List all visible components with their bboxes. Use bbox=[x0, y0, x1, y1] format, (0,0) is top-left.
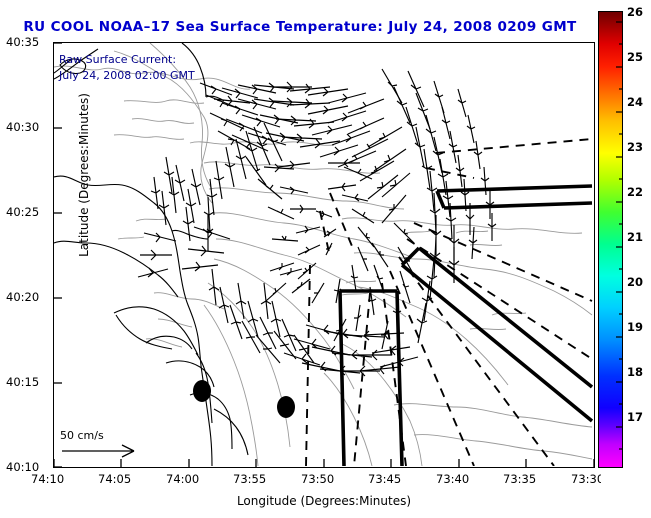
station-marker[interactable] bbox=[277, 396, 295, 418]
colorbar-tick-label: 18 bbox=[627, 365, 643, 379]
arrow-right-icon bbox=[60, 442, 144, 460]
colorbar-tick-label: 17 bbox=[627, 410, 643, 424]
colorbar-tick-label: 21 bbox=[627, 230, 643, 244]
vector-scale-legend: 50 cm/s bbox=[60, 429, 144, 460]
vector-scale-label: 50 cm/s bbox=[60, 429, 144, 442]
x-tick-label: 74:10 bbox=[31, 472, 64, 486]
colorbar-tick-label: 26 bbox=[627, 5, 643, 19]
map-plot-area[interactable] bbox=[53, 42, 595, 468]
y-tick-label: 40:25 bbox=[6, 205, 39, 219]
map-canvas bbox=[54, 43, 593, 466]
page-title: RU COOL NOAA–17 Sea Surface Temperature:… bbox=[0, 19, 600, 35]
y-tick-label: 40:15 bbox=[6, 375, 39, 389]
station-markers[interactable] bbox=[193, 380, 295, 418]
colorbar-tick-label: 20 bbox=[627, 275, 643, 289]
colorbar-ticks bbox=[614, 11, 624, 468]
station-marker[interactable] bbox=[193, 380, 211, 402]
annotation-line-1: Raw Surface Current: bbox=[59, 52, 195, 68]
x-tick-label: 74:00 bbox=[166, 472, 199, 486]
y-tick-label: 40:20 bbox=[6, 290, 39, 304]
x-tick-label: 73:35 bbox=[503, 472, 536, 486]
bathymetry-contours bbox=[54, 43, 592, 466]
colorbar-tick-label: 22 bbox=[627, 185, 643, 199]
x-tick-label: 73:45 bbox=[368, 472, 401, 486]
figure: RU COOL NOAA–17 Sea Surface Temperature:… bbox=[0, 0, 651, 518]
shipping-lanes bbox=[340, 186, 592, 466]
x-tick-label: 73:50 bbox=[301, 472, 334, 486]
x-tick-label: 73:30 bbox=[571, 472, 601, 486]
colorbar-tick-label: 23 bbox=[627, 140, 643, 154]
y-tick-label: 40:30 bbox=[6, 120, 39, 134]
colorbar-tick-label: 25 bbox=[627, 50, 643, 64]
x-axis-label: Longitude (Degrees:Minutes) bbox=[53, 494, 595, 508]
x-tick-label: 74:05 bbox=[98, 472, 131, 486]
colorbar-tick-label: 19 bbox=[627, 320, 643, 334]
x-tick-label: 73:40 bbox=[436, 472, 469, 486]
annotation-line-2: July 24, 2008 02:00 GMT bbox=[59, 68, 195, 84]
y-tick-label: 40:35 bbox=[6, 35, 39, 49]
x-tick-label: 73:55 bbox=[233, 472, 266, 486]
annotation-block: Raw Surface Current: July 24, 2008 02:00… bbox=[59, 52, 195, 84]
colorbar-tick-label: 24 bbox=[627, 95, 643, 109]
